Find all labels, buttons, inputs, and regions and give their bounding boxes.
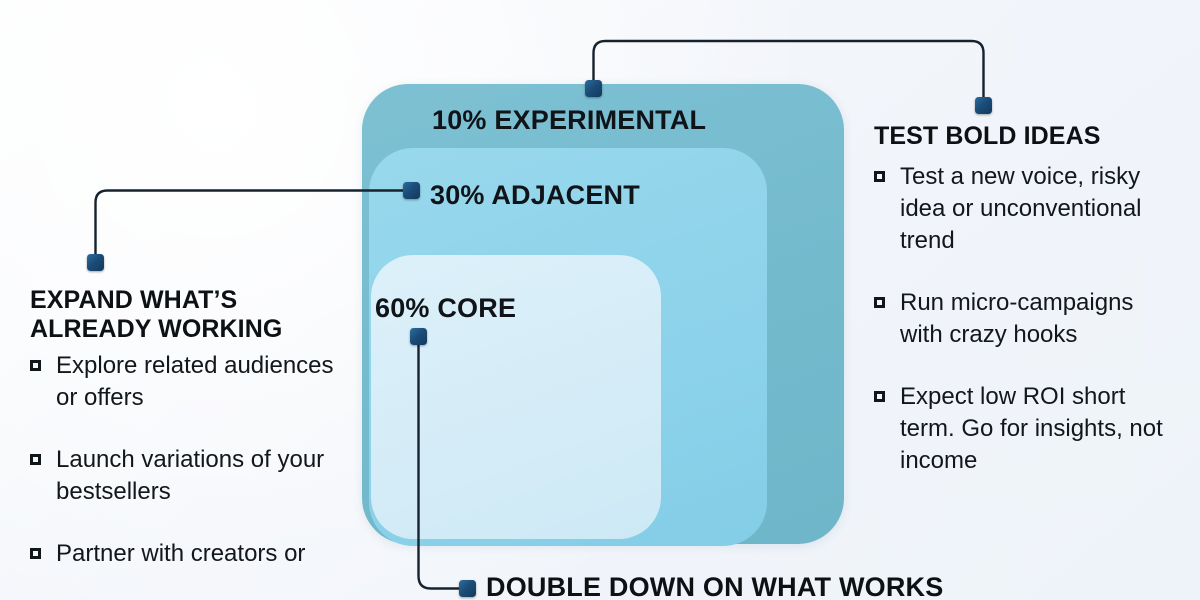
left-text-column: EXPAND WHAT’S ALREADY WORKING Explore re… <box>30 286 352 570</box>
bullet-text: Launch variations of your bestsellers <box>56 446 324 505</box>
list-item: Partner with creators or <box>30 538 352 570</box>
ring-label-experimental: 10% EXPERIMENTAL <box>432 105 706 136</box>
square-bullet-icon <box>874 391 885 402</box>
ring-label-adjacent: 30% ADJACENT <box>430 180 640 211</box>
node-double-down <box>459 580 476 597</box>
right-text-column: TEST BOLD IDEAS Test a new voice, risky … <box>874 122 1174 477</box>
list-item: Test a new voice, risky idea or unconven… <box>874 161 1174 257</box>
node-test-bold-ideas <box>975 97 992 114</box>
square-bullet-icon <box>30 454 41 465</box>
square-bullet-icon <box>30 360 41 371</box>
list-item: Explore related audiences or offers <box>30 350 352 414</box>
bullet-text: Run micro-campaigns with crazy hooks <box>900 289 1133 348</box>
ring-label-core: 60% CORE <box>375 293 516 324</box>
list-item: Expect low ROI short term. Go for insigh… <box>874 381 1174 477</box>
connector-adjacent-to-expand <box>96 191 404 255</box>
infographic-canvas: 10% EXPERIMENTAL 30% ADJACENT 60% CORE E… <box>0 0 1200 600</box>
bullet-text: Partner with creators or <box>56 540 305 567</box>
node-core <box>410 328 427 345</box>
node-adjacent <box>403 182 420 199</box>
right-bullet-list: Test a new voice, risky idea or unconven… <box>874 161 1174 477</box>
left-heading-line-1: EXPAND WHAT’S <box>30 286 237 314</box>
left-heading-line-2: ALREADY WORKING <box>30 315 282 343</box>
bottom-heading-double-down: DOUBLE DOWN ON WHAT WORKS <box>486 572 943 600</box>
list-item: Run micro-campaigns with crazy hooks <box>874 287 1174 351</box>
right-column-heading: TEST BOLD IDEAS <box>874 122 1174 151</box>
list-item: Launch variations of your bestsellers <box>30 444 352 508</box>
bullet-text: Expect low ROI short term. Go for insigh… <box>900 383 1163 474</box>
left-bullet-list: Explore related audiences or offers Laun… <box>30 350 352 570</box>
square-bullet-icon <box>874 171 885 182</box>
bullet-text: Test a new voice, risky idea or unconven… <box>900 163 1142 254</box>
node-expand-already-working <box>87 254 104 271</box>
square-bullet-icon <box>30 548 41 559</box>
square-bullet-icon <box>874 297 885 308</box>
node-experimental <box>585 80 602 97</box>
bullet-text: Explore related audiences or offers <box>56 352 334 411</box>
left-column-heading: EXPAND WHAT’S ALREADY WORKING <box>30 286 352 344</box>
